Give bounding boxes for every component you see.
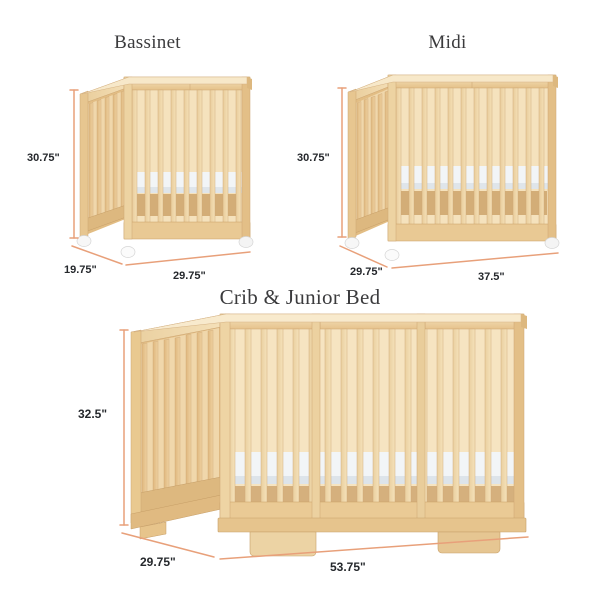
crib-depth-label: 29.75" bbox=[140, 555, 176, 569]
crib-height-label: 32.5" bbox=[78, 407, 107, 421]
panel-midi: Midi bbox=[295, 24, 600, 284]
panel-crib-junior-bed: Crib & Junior Bed bbox=[0, 280, 600, 600]
crib-width-label: 53.75" bbox=[330, 560, 366, 574]
panel-bassinet: Bassinet bbox=[0, 24, 295, 284]
midi-depth-label: 29.75" bbox=[350, 266, 383, 278]
crib-midi-icon bbox=[295, 24, 600, 284]
midi-height-label: 30.75" bbox=[297, 152, 330, 164]
bassinet-height-label: 30.75" bbox=[27, 152, 60, 164]
crib-full-icon bbox=[0, 280, 600, 600]
crib-dimension-diagram: Bassinet bbox=[0, 0, 600, 600]
bassinet-depth-label: 19.75" bbox=[64, 264, 97, 276]
